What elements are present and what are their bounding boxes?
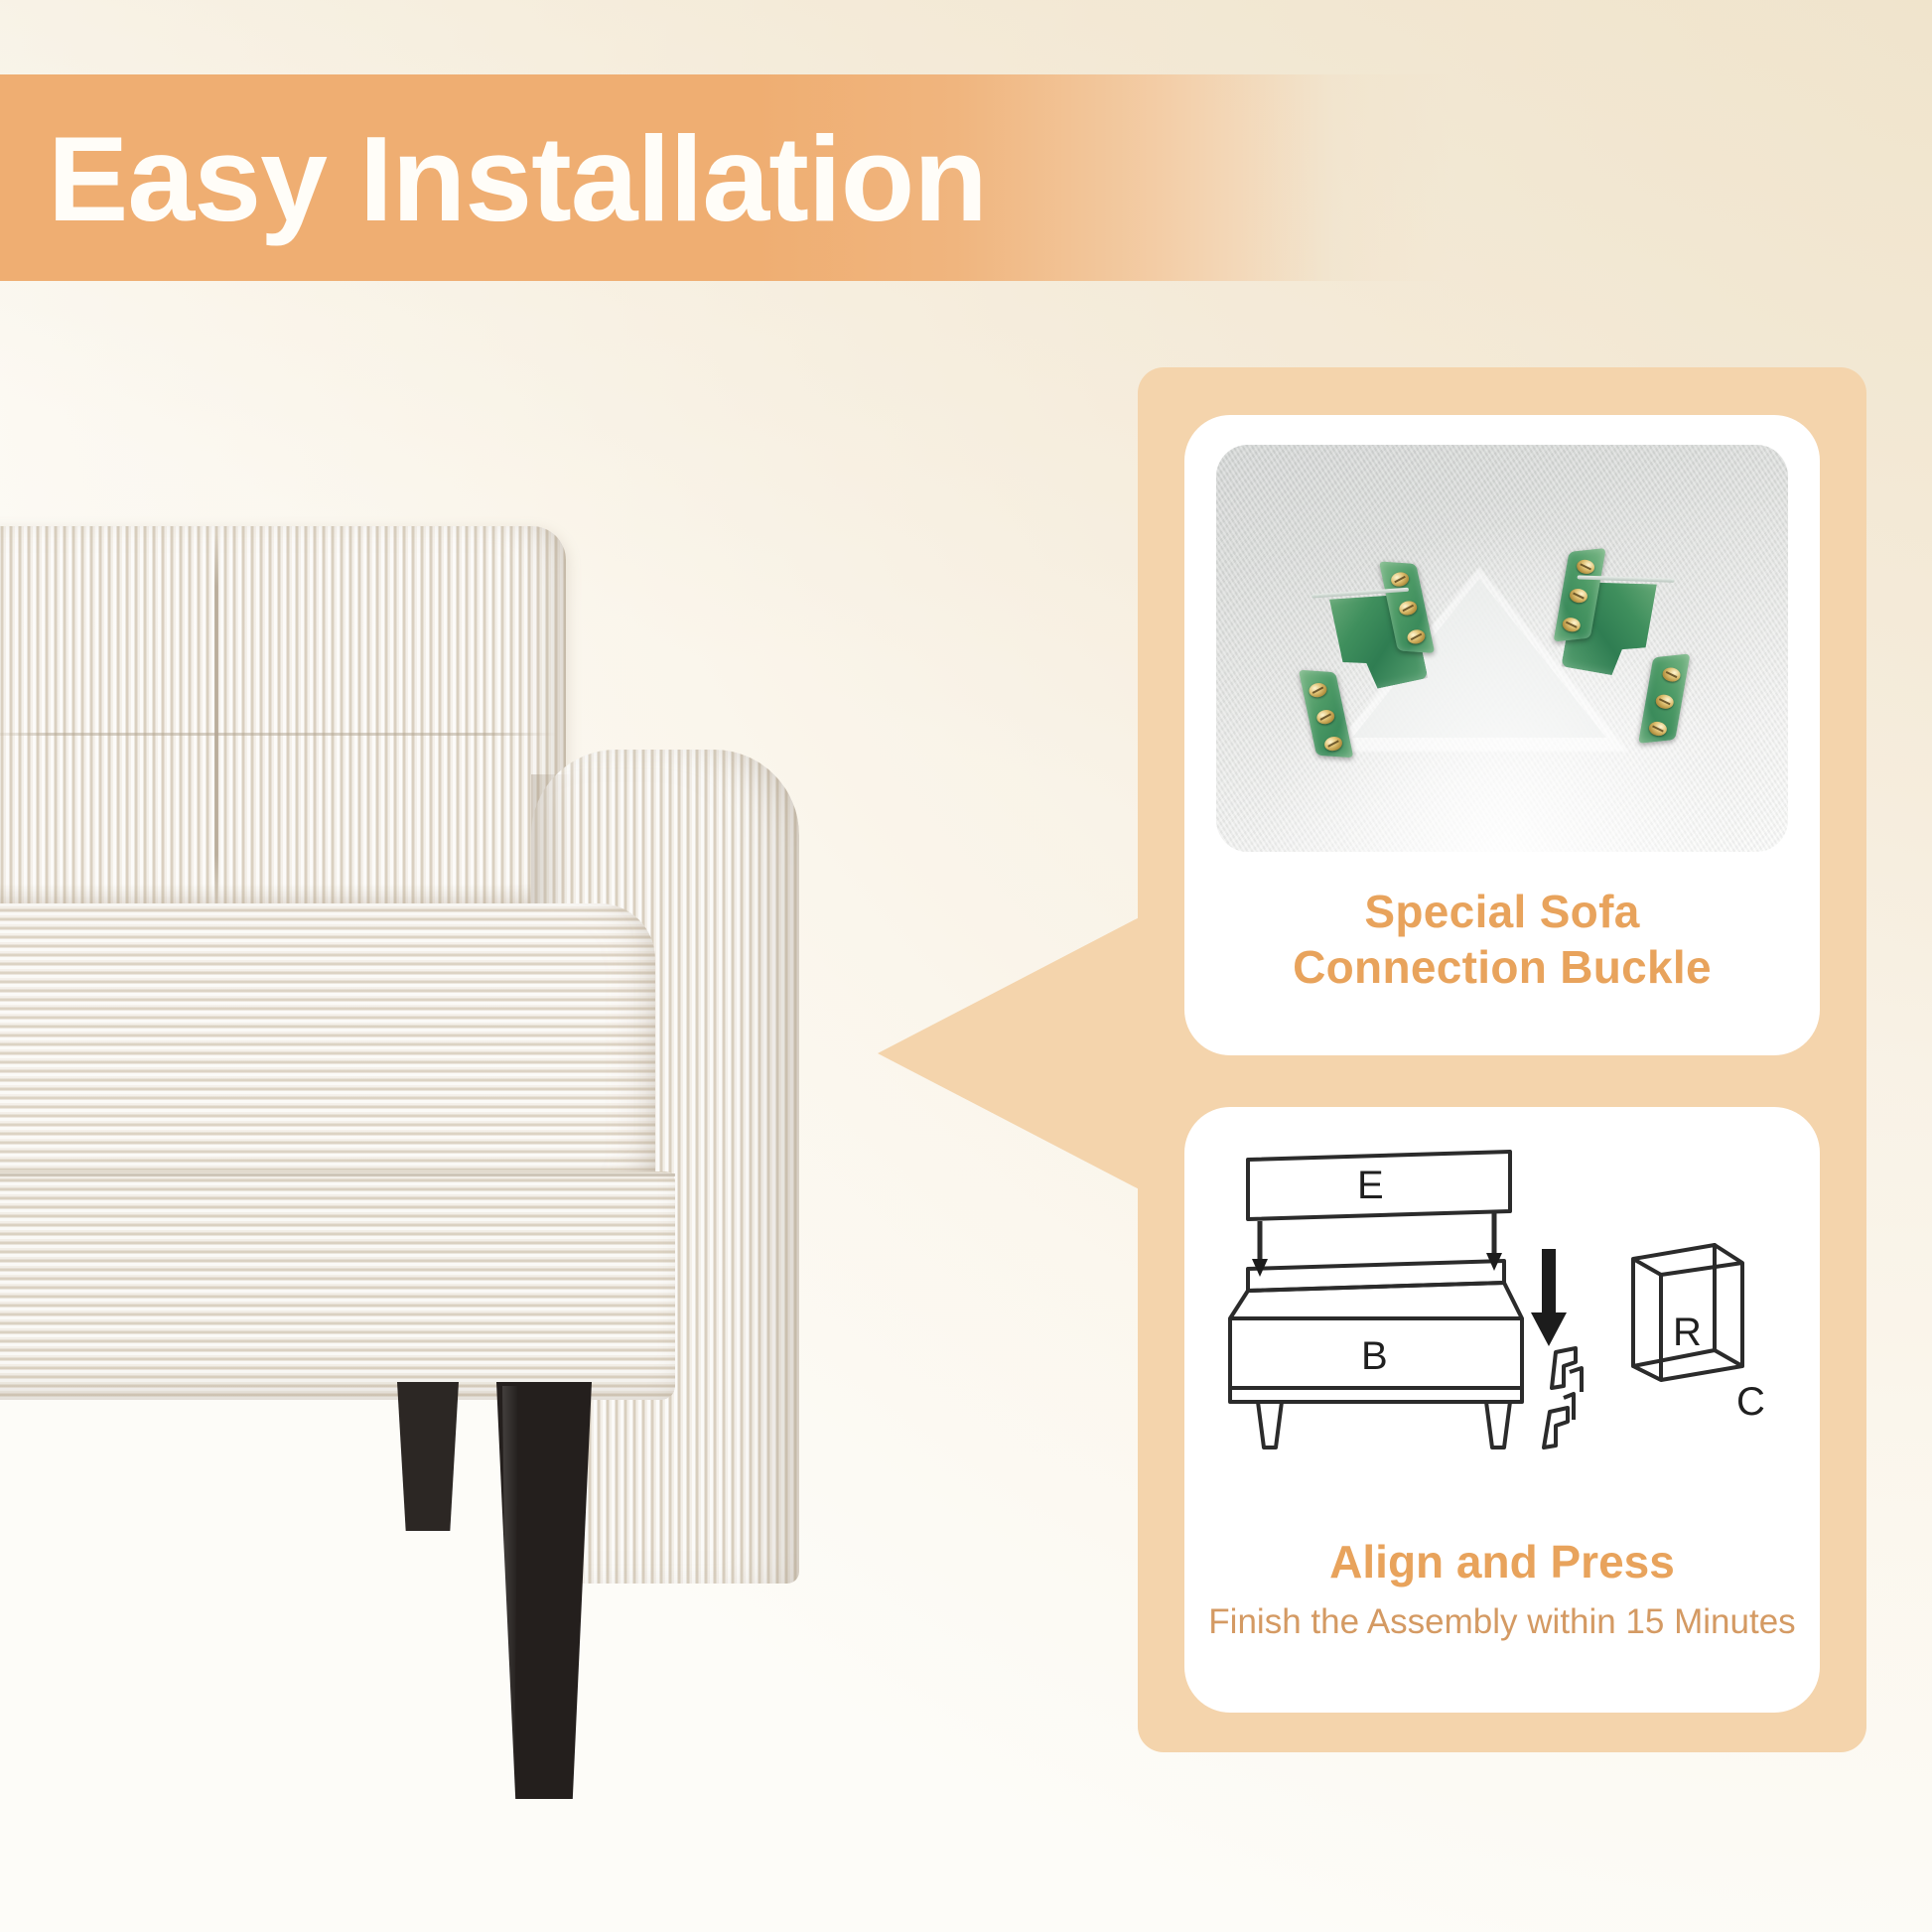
page-title: Easy Installation (48, 89, 987, 268)
diagram-label-side-panel: R (1673, 1312, 1702, 1352)
sofa-base-frame (0, 1172, 675, 1400)
base-seam-line (0, 1173, 675, 1176)
diagram-label-brackets: C (1736, 1382, 1765, 1422)
assembly-card-title: Align and Press (1184, 1534, 1820, 1589)
sofa-product-photo (0, 526, 973, 1896)
buckle-title-line2: Connection Buckle (1184, 939, 1820, 995)
sofa-leg-rear (397, 1382, 459, 1531)
press-down-arrow-icon (1531, 1249, 1567, 1346)
assembly-diagram: E B R C (1206, 1142, 1802, 1529)
diagram-label-backrest: E (1357, 1166, 1384, 1205)
cushion-horizontal-seam (0, 733, 558, 736)
sofa-back-cushion (0, 526, 566, 923)
assembly-card-subtitle: Finish the Assembly within 15 Minutes (1184, 1602, 1820, 1642)
buckle-photo (1216, 445, 1788, 852)
diagram-label-base: B (1361, 1336, 1388, 1376)
buckle-card-title: Special Sofa Connection Buckle (1184, 884, 1820, 995)
cushion-vertical-seam (214, 534, 218, 907)
connection-bracket-right (1551, 547, 1699, 744)
assembly-diagram-svg (1206, 1142, 1802, 1529)
buckle-title-line1: Special Sofa (1184, 884, 1820, 939)
sofa-seat-cushion (0, 903, 655, 1201)
